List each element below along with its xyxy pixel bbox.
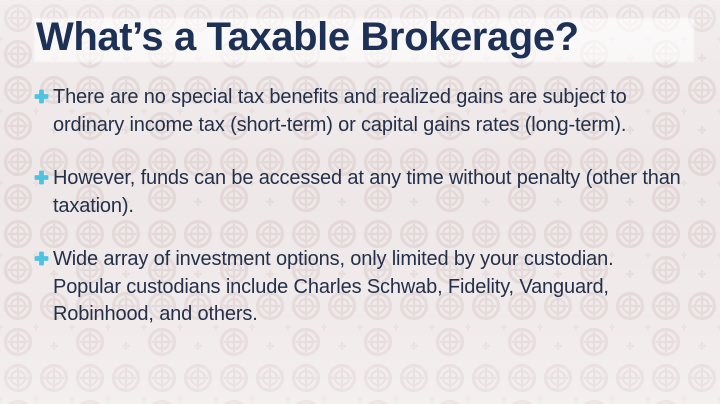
bullet-item-2: However, funds can be accessed at any ti… <box>33 165 686 220</box>
plus-icon <box>33 165 50 196</box>
plus-icon <box>33 84 50 115</box>
bullet-text: Wide array of investment options, only l… <box>53 246 681 329</box>
page-title: What’s a Taxable Brokerage? <box>30 12 700 62</box>
bullet-item-1: There are no special tax benefits and re… <box>33 84 686 139</box>
title-container: What’s a Taxable Brokerage? <box>30 12 700 66</box>
bullet-item-3: Wide array of investment options, only l… <box>33 246 686 329</box>
bullet-text: There are no special tax benefits and re… <box>53 84 681 139</box>
slide-content: What’s a Taxable Brokerage? There are no… <box>0 0 720 404</box>
bullet-list: There are no special tax benefits and re… <box>33 84 686 329</box>
plus-icon <box>33 246 50 277</box>
slide-canvas: What’s a Taxable Brokerage? There are no… <box>0 0 720 404</box>
bullet-text: However, funds can be accessed at any ti… <box>53 165 681 220</box>
